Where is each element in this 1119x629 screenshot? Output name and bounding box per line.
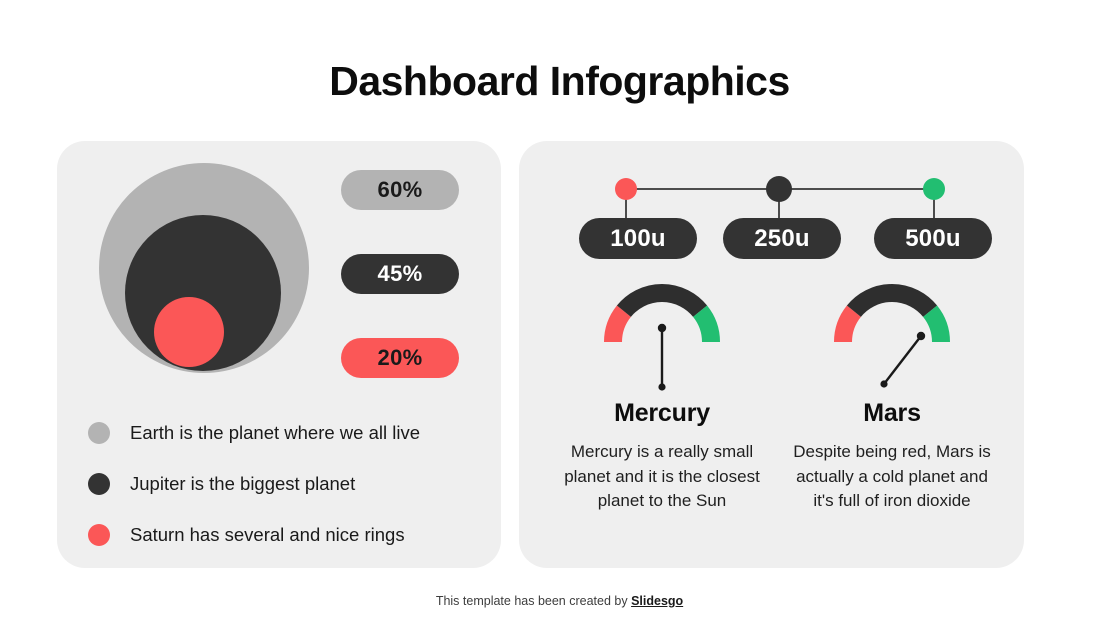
gauge-needle-tip xyxy=(658,383,665,390)
gauge-card-mars: Mars Despite being red, Mars is actually… xyxy=(792,283,992,514)
gauge-card-mercury: Mercury Mercury is a really small planet… xyxy=(562,283,762,514)
circle-saturn xyxy=(154,297,224,367)
page-title: Dashboard Infographics xyxy=(0,58,1119,105)
footer-text: This template has been created by xyxy=(436,594,631,608)
gauge-segment-low xyxy=(613,311,624,342)
gauge-description-mercury: Mercury is a really small planet and it … xyxy=(562,440,762,514)
percent-pill-jupiter[interactable]: 45% xyxy=(341,254,459,294)
gauge-mars xyxy=(792,283,992,401)
timeline-dot-250u-icon[interactable] xyxy=(766,176,792,202)
gauge-segment-high xyxy=(700,311,711,342)
percent-pill-saturn[interactable]: 20% xyxy=(341,338,459,378)
card-proportional-circles: 60% 45% 20% Earth is the planet where we… xyxy=(57,141,501,568)
slide-canvas: Dashboard Infographics 60% 45% 20% Earth… xyxy=(0,0,1119,629)
timeline-pill-250u[interactable]: 250u xyxy=(723,218,841,259)
timeline-dot-100u-icon[interactable] xyxy=(615,178,637,200)
gauge-segment-low xyxy=(843,311,854,342)
gauge-needle-tip xyxy=(880,380,887,387)
legend-item-jupiter: Jupiter is the biggest planet xyxy=(88,458,488,509)
nested-circles-chart xyxy=(99,163,329,408)
timeline-dot-500u-icon[interactable] xyxy=(923,178,945,200)
timeline-pill-500u[interactable]: 500u xyxy=(874,218,992,259)
card-timeline-and-gauges: 100u 250u 500u Mercury xyxy=(519,141,1024,568)
gauge-needle-pivot xyxy=(658,324,666,332)
gauge-title-mercury: Mercury xyxy=(562,399,762,428)
timeline-pill-100u[interactable]: 100u xyxy=(579,218,697,259)
legend-dot-jupiter-icon xyxy=(88,473,110,495)
gauge-segment-high xyxy=(930,311,941,342)
legend-item-saturn: Saturn has several and nice rings xyxy=(88,509,488,560)
gauge-title-mars: Mars xyxy=(792,399,992,428)
gauge-segment-mid xyxy=(854,293,930,311)
legend-item-label: Earth is the planet where we all live xyxy=(130,422,420,444)
legend: Earth is the planet where we all live Ju… xyxy=(88,407,488,560)
gauge-needle xyxy=(884,336,921,384)
legend-dot-saturn-icon xyxy=(88,524,110,546)
legend-item-label: Jupiter is the biggest planet xyxy=(130,473,355,495)
gauge-segment-mid xyxy=(624,293,700,311)
gauge-description-mars: Despite being red, Mars is actually a co… xyxy=(792,440,992,514)
gauge-mercury xyxy=(562,283,762,401)
percent-pill-earth[interactable]: 60% xyxy=(341,170,459,210)
slidesgo-link[interactable]: Slidesgo xyxy=(631,594,683,608)
gauge-needle-pivot xyxy=(917,332,925,340)
legend-item-earth: Earth is the planet where we all live xyxy=(88,407,488,458)
legend-item-label: Saturn has several and nice rings xyxy=(130,524,405,546)
footer-attribution: This template has been created by Slides… xyxy=(0,594,1119,608)
legend-dot-earth-icon xyxy=(88,422,110,444)
milestone-timeline: 100u 250u 500u xyxy=(519,141,1024,281)
